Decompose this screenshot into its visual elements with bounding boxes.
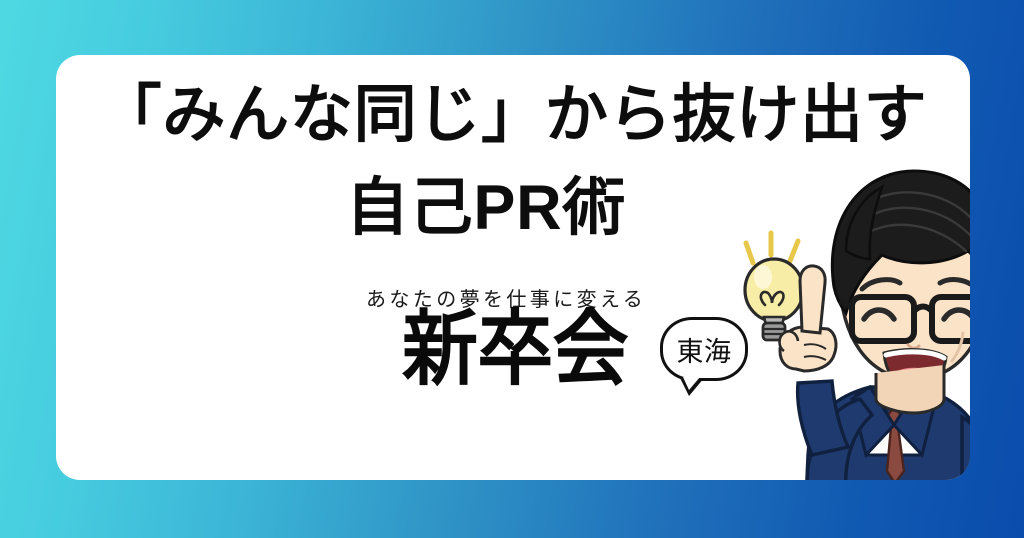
brand-logo: あなたの夢を仕事に変える 新卒会 東海 xyxy=(364,283,714,423)
logo-name: 新卒会 xyxy=(402,309,628,391)
mascot-illustration xyxy=(748,155,970,480)
promo-banner: 「みんな同じ」から抜け出す 自己PR術 あなたの夢を仕事に変える 新卒会 東海 xyxy=(0,0,1024,538)
content-card: 「みんな同じ」から抜け出す 自己PR術 あなたの夢を仕事に変える 新卒会 東海 xyxy=(56,55,970,480)
headline-line-1: 「みんな同じ」から抜け出す xyxy=(56,77,970,154)
